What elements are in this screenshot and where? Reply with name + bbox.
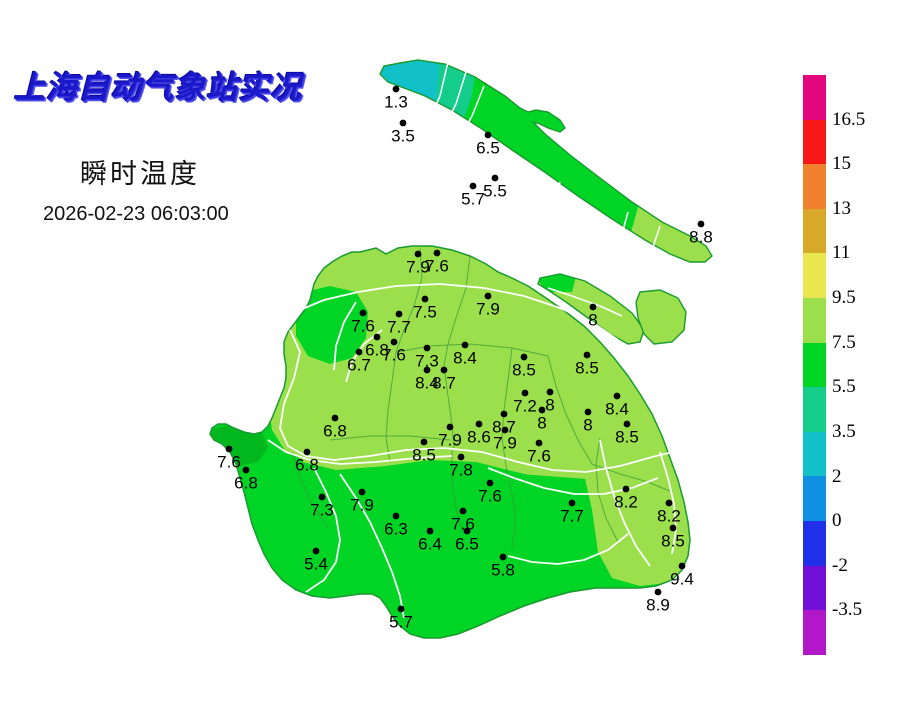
temperature-map[interactable]: 1.33.56.55.55.78.87.97.67.57.97.67.76.86… (0, 0, 790, 721)
colorbar-band (803, 387, 826, 432)
colorbar-band (803, 120, 826, 165)
station-temperature-label: 8.9 (646, 595, 670, 614)
station-dot (476, 421, 483, 428)
station-dot (547, 389, 554, 396)
colorbar-tick: 2 (832, 466, 842, 488)
station-temperature-label: 8.5 (615, 427, 639, 446)
station-dot (422, 296, 429, 303)
station-temperature-label: 6.5 (476, 138, 500, 157)
colorbar-tick: -3.5 (832, 599, 862, 621)
station-temperature-label: 5.7 (389, 612, 413, 631)
station-dot (470, 183, 477, 190)
colorbar-tick: 11 (832, 242, 850, 264)
station-marker[interactable]: 3.5 (391, 120, 415, 146)
colorbar-tick: 9.5 (832, 287, 856, 309)
station-dot (536, 440, 543, 447)
station-temperature-label: 8.5 (575, 358, 599, 377)
station-temperature-label: 8.5 (412, 445, 436, 464)
station-dot (501, 411, 508, 418)
station-temperature-label: 6.8 (234, 473, 258, 492)
station-dot (585, 409, 592, 416)
station-dot (393, 86, 400, 93)
station-dot (590, 304, 597, 311)
station-dot (396, 311, 403, 318)
station-dot (655, 589, 662, 596)
station-dot (569, 500, 576, 507)
station-dot (434, 250, 441, 257)
station-dot (624, 421, 631, 428)
station-marker[interactable]: 8.9 (646, 589, 670, 615)
station-dot (359, 489, 366, 496)
station-temperature-label: 7.6 (527, 446, 551, 465)
station-temperature-label: 8.2 (657, 506, 681, 525)
colorbar-tick: 0 (832, 510, 842, 532)
colorbar-band (803, 476, 826, 521)
station-temperature-label: 7.3 (310, 500, 334, 519)
station-dot (415, 251, 422, 258)
station-dot (698, 221, 705, 228)
station-temperature-label: 8.2 (614, 492, 638, 511)
station-temperature-label: 8 (545, 395, 554, 414)
station-dot (666, 500, 673, 507)
colorbar-tick: 3.5 (832, 421, 856, 443)
station-temperature-label: 8 (588, 310, 597, 329)
station-temperature-label: 3.5 (391, 126, 415, 145)
colorbar-band (803, 298, 826, 343)
station-dot (458, 454, 465, 461)
station-dot (492, 175, 499, 182)
colorbar-band (803, 521, 826, 566)
station-dot (313, 548, 320, 555)
station-temperature-label: 6.7 (347, 355, 371, 374)
station-dot (539, 407, 546, 414)
station-temperature-label: 8 (583, 415, 592, 434)
station-temperature-label: 6.3 (384, 519, 408, 538)
station-temperature-label: 8.4 (453, 348, 477, 367)
station-dot (464, 528, 471, 535)
station-dot (304, 449, 311, 456)
station-marker[interactable]: 8 (537, 407, 546, 433)
station-dot (487, 480, 494, 487)
station-marker[interactable]: 8 (545, 389, 554, 415)
station-temperature-label: 6.8 (323, 421, 347, 440)
station-marker[interactable]: 5.7 (461, 183, 485, 209)
station-dot (485, 293, 492, 300)
station-temperature-label: 6.5 (455, 534, 479, 553)
map-svg: 1.33.56.55.55.78.87.97.67.57.97.67.76.86… (0, 0, 790, 721)
station-temperature-label: 8.5 (512, 360, 536, 379)
station-temperature-label: 7.9 (350, 495, 374, 514)
station-temperature-label: 7.8 (449, 460, 473, 479)
station-dot (502, 427, 509, 434)
station-marker[interactable]: 5.5 (483, 175, 507, 201)
station-dot (374, 334, 381, 341)
station-temperature-label: 8.7 (432, 373, 456, 392)
station-temperature-label: 6.8 (295, 455, 319, 474)
station-temperature-label: 9.4 (670, 569, 694, 588)
station-marker[interactable]: 8 (583, 409, 592, 435)
station-temperature-label: 8.6 (467, 427, 491, 446)
station-temperature-label: 7.5 (413, 302, 437, 321)
station-temperature-label: 7.6 (382, 345, 406, 364)
station-dot (427, 528, 434, 535)
station-temperature-label: 5.7 (461, 189, 485, 208)
station-dot (421, 439, 428, 446)
station-temperature-label: 5.8 (491, 560, 515, 579)
station-temperature-label: 7.9 (493, 433, 517, 452)
station-marker[interactable]: 1.3 (384, 86, 408, 112)
station-dot (226, 446, 233, 453)
station-dot (460, 508, 467, 515)
station-temperature-label: 6.4 (418, 534, 442, 553)
station-temperature-label: 7.7 (387, 317, 411, 336)
station-dot (424, 367, 431, 374)
station-dot (360, 310, 367, 317)
station-temperature-label: 5.4 (304, 554, 328, 573)
station-dot (522, 390, 529, 397)
colorbar-band (803, 610, 826, 655)
station-dot (521, 354, 528, 361)
station-temperature-label: 7.2 (513, 396, 537, 415)
station-dot (398, 606, 405, 613)
colorbar (803, 75, 826, 655)
colorbar-tick-labels: 16.51513119.57.55.53.520-2-3.5 (832, 75, 902, 655)
station-temperature-label: 1.3 (384, 92, 408, 111)
station-temperature-label: 8.4 (605, 399, 629, 418)
station-dot (332, 415, 339, 422)
weather-map-page: 上海自动气象站实况 瞬时温度 2026-02-23 06:03:00 (0, 0, 910, 721)
colorbar-band (803, 75, 826, 120)
station-dot (441, 367, 448, 374)
station-temperature-label: 5.5 (483, 181, 507, 200)
station-dot (614, 393, 621, 400)
colorbar-tick: 5.5 (832, 376, 856, 398)
station-marker[interactable]: 8 (588, 304, 597, 330)
station-dot (584, 352, 591, 359)
station-dot (391, 339, 398, 346)
station-dot (447, 424, 454, 431)
station-temperature-label: 7.6 (351, 316, 375, 335)
colorbar-band (803, 343, 826, 388)
colorbar-tick: 7.5 (832, 332, 856, 354)
station-temperature-label: 7.6 (451, 514, 475, 533)
station-temperature-label: 7.9 (438, 430, 462, 449)
colorbar-band (803, 209, 826, 254)
station-dot (393, 513, 400, 520)
station-dot (319, 494, 326, 501)
station-temperature-label: 7.7 (560, 506, 584, 525)
station-dot (670, 525, 677, 532)
colorbar-tick: 15 (832, 153, 851, 175)
station-temperature-label: 7.6 (217, 452, 241, 471)
station-dot (356, 349, 363, 356)
station-temperature-label: 8.8 (689, 227, 713, 246)
station-dot (485, 132, 492, 139)
colorbar-band (803, 432, 826, 477)
station-marker[interactable]: 8.8 (689, 221, 713, 247)
station-dot (679, 563, 686, 570)
station-dot (400, 120, 407, 127)
station-temperature-label: 7.9 (476, 299, 500, 318)
colorbar-band (803, 566, 826, 611)
station-temperature-label: 8 (537, 413, 546, 432)
station-dot (462, 342, 469, 349)
station-temperature-label: 7.6 (478, 486, 502, 505)
station-temperature-label: 8.5 (661, 531, 685, 550)
station-temperature-label: 7.6 (425, 256, 449, 275)
colorbar-band (803, 164, 826, 209)
colorbar-tick: 16.5 (832, 109, 865, 131)
colorbar-tick: 13 (832, 198, 851, 220)
station-dot (424, 345, 431, 352)
station-dot (623, 486, 630, 493)
station-dot (243, 467, 250, 474)
station-dot (500, 554, 507, 561)
colorbar-tick: -2 (832, 555, 848, 577)
colorbar-band (803, 253, 826, 298)
